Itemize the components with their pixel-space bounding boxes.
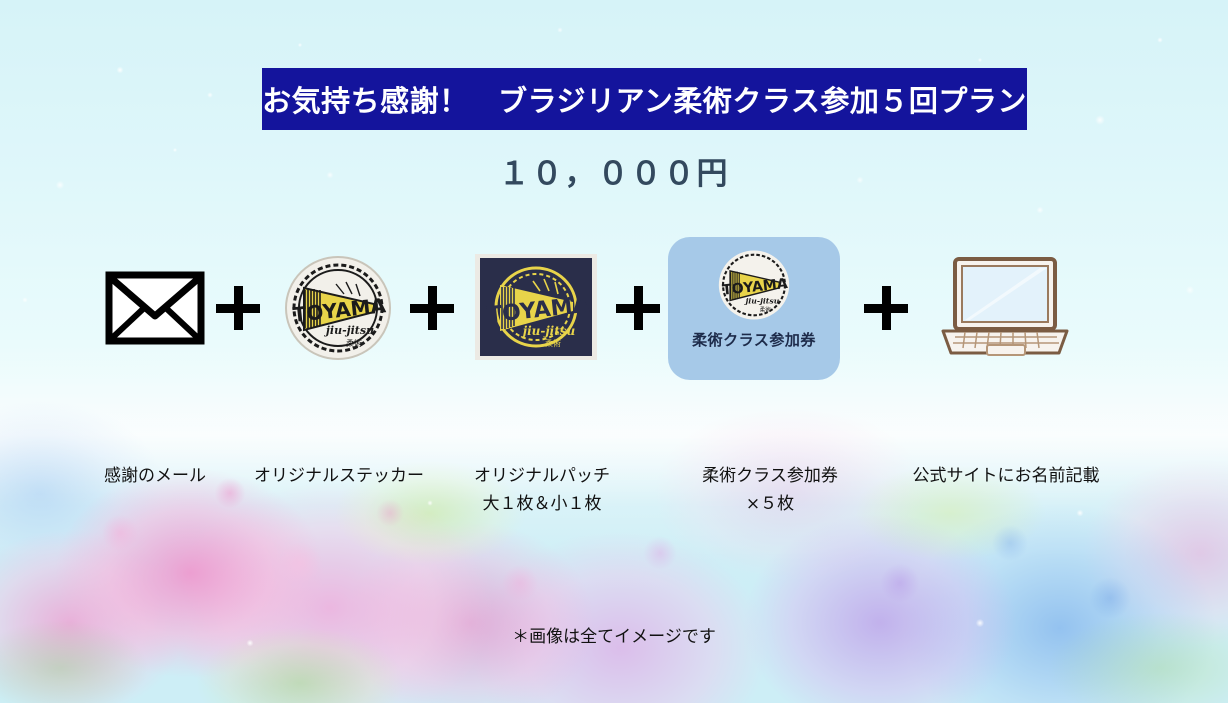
plan-price: １０，０００円 xyxy=(0,148,1228,193)
reward-item-sticker: TOYAMA jiu-jitsu 柔術 xyxy=(278,228,398,388)
plan-title-banner: お気持ち感謝！ ブラジリアン柔術クラス参加５回プラン xyxy=(262,68,1027,130)
embroidered-patch-icon: TOYAMA jiu-jitsu 柔術 xyxy=(473,251,599,365)
promo-slide: お気持ち感謝！ ブラジリアン柔術クラス参加５回プラン １０，０００円 xyxy=(0,0,1228,703)
reward-item-ticket: TOYAMA jiu-jitsu 柔術 柔術クラス参加券 xyxy=(664,228,844,388)
caption-sticker: オリジナルステッカー xyxy=(243,462,435,490)
ticket-logo-icon: TOYAMA jiu-jitsu 柔術 xyxy=(716,247,792,323)
background-petal-texture xyxy=(0,383,1228,703)
image-disclaimer-note: ＊画像は全てイメージです xyxy=(0,622,1228,647)
plus-separator-2 xyxy=(402,228,462,388)
class-ticket-card: TOYAMA jiu-jitsu 柔術 柔術クラス参加券 xyxy=(668,237,840,380)
plus-separator-3 xyxy=(608,228,668,388)
circular-sticker-logo-icon: TOYAMA jiu-jitsu 柔術 xyxy=(284,254,392,362)
reward-item-email xyxy=(100,228,210,388)
plan-title-text: お気持ち感謝！ ブラジリアン柔術クラス参加５回プラン xyxy=(262,78,1027,120)
svg-text:jiu-jitsu: jiu-jitsu xyxy=(324,324,374,337)
caption-email: 感謝のメール xyxy=(75,462,235,490)
laptop-icon xyxy=(935,253,1075,363)
reward-item-website xyxy=(930,228,1080,388)
svg-text:柔術: 柔術 xyxy=(346,338,362,348)
envelope-icon xyxy=(105,271,205,345)
ticket-label: 柔術クラス参加券 xyxy=(692,329,816,350)
reward-icon-row: TOYAMA jiu-jitsu 柔術 xyxy=(0,228,1228,388)
caption-patch: オリジナルパッチ 大１枚＆小１枚 xyxy=(462,462,622,518)
caption-website: 公式サイトにお名前記載 xyxy=(900,462,1112,490)
svg-text:jiu-jitsu: jiu-jitsu xyxy=(744,296,780,305)
svg-text:jiu-jitsu: jiu-jitsu xyxy=(521,324,576,338)
reward-item-patch: TOYAMA jiu-jitsu 柔術 xyxy=(468,228,604,388)
plus-separator-4 xyxy=(856,228,916,388)
svg-text:柔術: 柔術 xyxy=(545,338,561,348)
caption-ticket: 柔術クラス参加券 ×５枚 xyxy=(690,462,850,518)
plus-separator-1 xyxy=(208,228,268,388)
